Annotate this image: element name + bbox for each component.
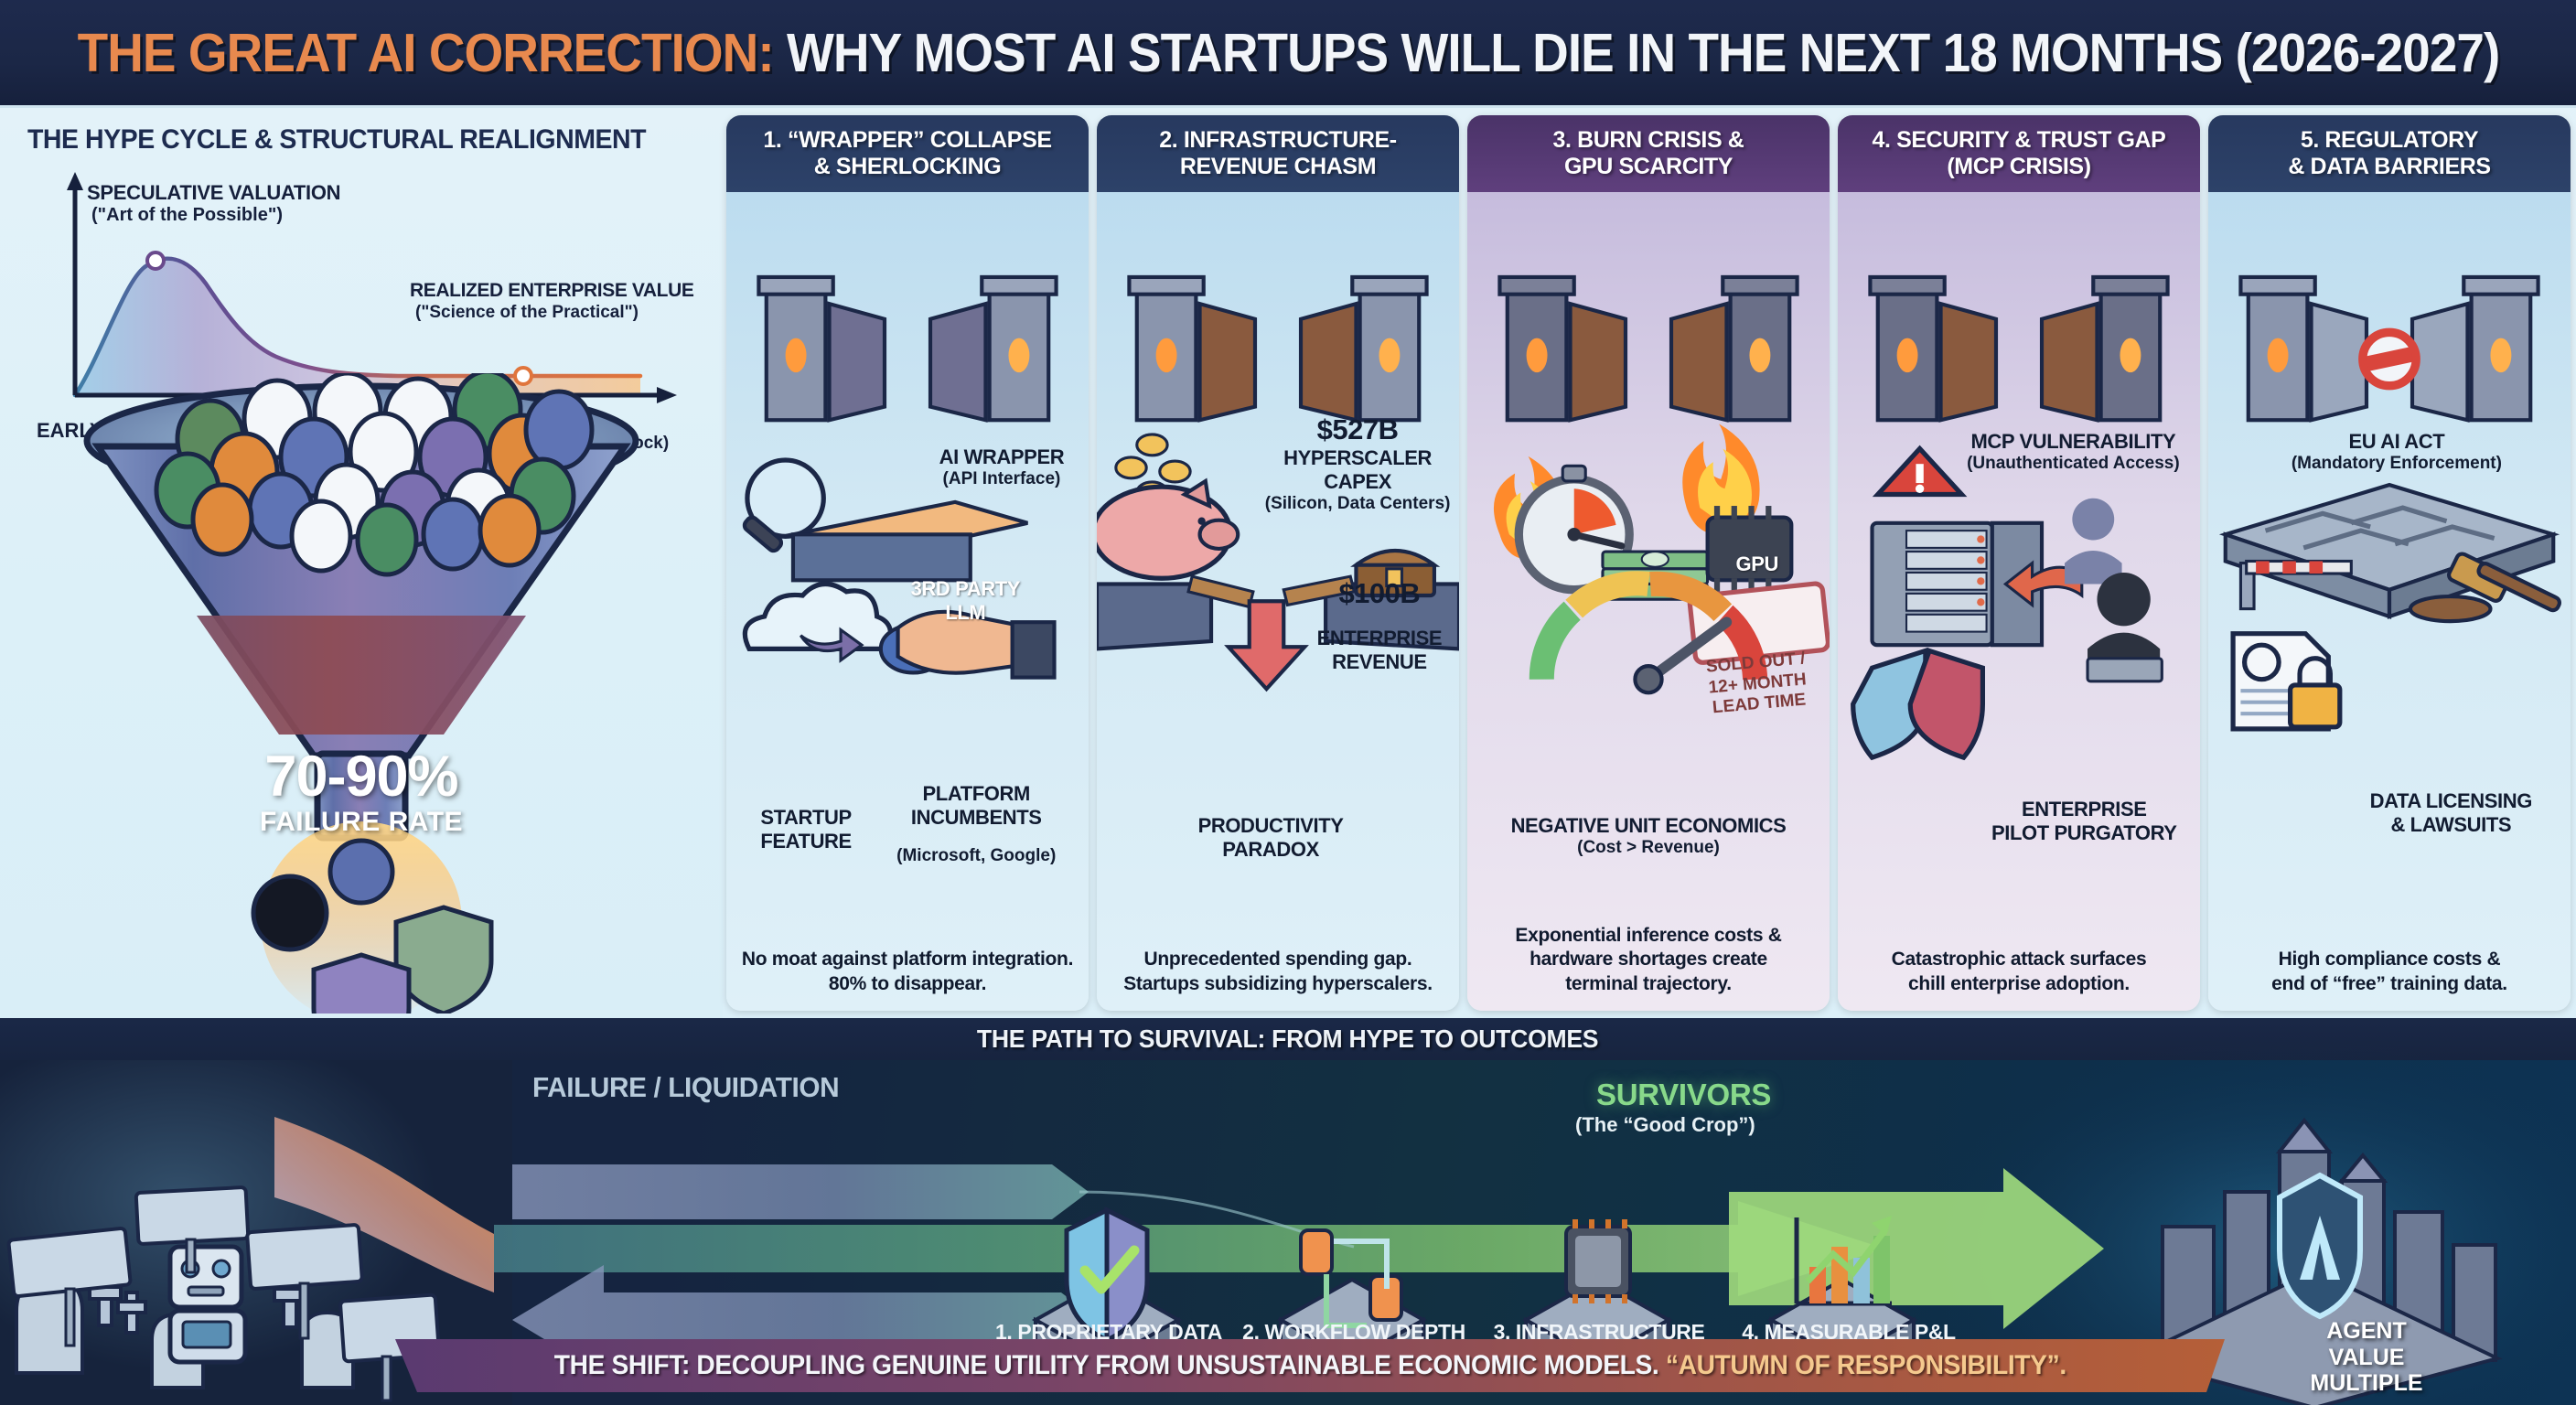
open-gate-icon: [1129, 277, 1426, 420]
chart-annotation-realized: REALIZED ENTERPRISE VALUE: [410, 280, 693, 302]
panel-1-label-startup-feature: STARTUP FEATURE: [734, 789, 878, 870]
panel-4-body: MCP VULNERABILITY (Unauthenticated Acces…: [1838, 192, 2200, 1011]
panel-1-footer: No moat against platform integration. 80…: [726, 948, 1089, 996]
startup-failure-funnel: 70-90% FAILURE RATE: [50, 373, 672, 1014]
gpu-chip-icon: [1708, 506, 1792, 592]
open-gate-icon: [1870, 277, 2167, 420]
panel-1-title: 1. “WRAPPER” COLLAPSE & SHERLOCKING: [726, 115, 1089, 192]
panel-3-footer: Exponential inference costs & hardware s…: [1467, 924, 1830, 996]
maze-icon: [2226, 485, 2553, 617]
no-entry-icon: [2363, 332, 2416, 385]
broken-shield-icon: [1853, 650, 1983, 757]
risk-panels: 1. “WRAPPER” COLLAPSE & SHERLOCKING: [723, 108, 2576, 1018]
panel-wrapper-collapse[interactable]: 1. “WRAPPER” COLLAPSE & SHERLOCKING: [726, 115, 1089, 1011]
panel-2-footer: Unprecedented spending gap. Startups sub…: [1097, 948, 1459, 996]
panel-2-title: 2. INFRASTRUCTURE- REVENUE CHASM: [1097, 115, 1459, 192]
section-heading: THE HYPE CYCLE & STRUCTURAL REALIGNMENT: [27, 124, 671, 156]
panel-3-body: GPU SOLD OUT / 12+ MONTH LEAD TIME NEGAT…: [1467, 192, 1830, 1011]
agent-value-multiple-label: AGENT VALUE MULTIPLE: [2270, 1318, 2463, 1397]
panel-3-label-negative-unit-economics: NEGATIVE UNIT ECONOMICS (Cost > Revenue): [1471, 814, 1826, 858]
panel-1-label-ai-wrapper: AI WRAPPER (API Interface): [915, 445, 1089, 489]
page-title: THE GREAT AI CORRECTION: WHY MOST AI STA…: [77, 22, 2499, 84]
panel-5-illustration: [2208, 192, 2571, 781]
panel-5-label-eu-ai-act: EU AI ACT (Mandatory Enforcement): [2238, 430, 2556, 474]
y-axis-arrow: [67, 172, 83, 190]
panel-4-label-mcp-vulnerability: MCP VULNERABILITY (Unauthenticated Acces…: [1947, 430, 2200, 474]
panel-5-footer: High compliance costs & end of “free” tr…: [2208, 948, 2571, 996]
panel-2-label-enterprise-revenue: $100B ENTERPRISE REVENUE: [1300, 561, 1459, 691]
panel-4-title: 4. SECURITY & TRUST GAP (MCP CRISIS): [1838, 115, 2200, 192]
panel-4-footer: Catastrophic attack surfaces chill enter…: [1838, 948, 2200, 996]
shift-text-highlight: “AUTUMN OF RESPONSIBILITY”.: [1658, 1350, 2066, 1380]
panel-security-trust-gap[interactable]: 4. SECURITY & TRUST GAP (MCP CRISIS): [1838, 115, 2200, 1011]
down-arrow-icon: [1229, 601, 1304, 689]
panel-regulatory-data-barriers[interactable]: 5. REGULATORY & DATA BARRIERS: [2208, 115, 2571, 1011]
shift-banner-text: THE SHIFT: DECOUPLING GENUINE UTILITY FR…: [553, 1350, 2066, 1381]
piggy-bank-icon: [1097, 481, 1238, 578]
robot-icon: [170, 1247, 245, 1362]
open-gate-icon: [1499, 277, 1797, 420]
chart-annotation-speculative-sub: ("Art of the Possible"): [91, 205, 283, 226]
copyright-document-icon: [2233, 634, 2340, 729]
peak-marker: [147, 252, 164, 269]
panel-4-label-enterprise-pilot-purgatory: ENTERPRISE PILOT PURGATORY: [1975, 781, 2193, 862]
failure-flow-top: [512, 1164, 1089, 1219]
panel-2-label-productivity-paradox: PRODUCTIVITY PARADOX: [1162, 798, 1379, 878]
title-highlight: THE GREAT AI CORRECTION:: [77, 23, 773, 83]
panel-infrastructure-revenue-chasm[interactable]: 2. INFRASTRUCTURE- REVENUE CHASM: [1097, 115, 1459, 1011]
panel-5-body: EU AI ACT (Mandatory Enforcement) DATA L…: [2208, 192, 2571, 1011]
panel-1-label-3rd-party-llm: 3RD PARTY LLM: [882, 561, 1048, 641]
panel-3-title: 3. BURN CRISIS & GPU SCARCITY: [1467, 115, 1830, 192]
funnel-svg: [50, 373, 672, 1014]
panel-2-label-capex: $527B HYPERSCALER CAPEX (Silicon, Data C…: [1256, 413, 1459, 514]
page-title-bar: THE GREAT AI CORRECTION: WHY MOST AI STA…: [0, 0, 2576, 108]
failure-liquidation-label: FAILURE / LIQUIDATION: [532, 1071, 839, 1104]
panel-4-illustration: [1838, 192, 2200, 781]
panel-5-title: 5. REGULATORY & DATA BARRIERS: [2208, 115, 2571, 192]
open-gate-icon: [758, 277, 1056, 420]
panel-2-body: $527B HYPERSCALER CAPEX (Silicon, Data C…: [1097, 192, 1459, 1011]
funnel-band: [197, 616, 526, 735]
panel-1-body: AI WRAPPER (API Interface) 3RD PARTY LLM…: [726, 192, 1089, 1011]
panel-5-label-data-licensing: DATA LICENSING & LAWSUITS: [2339, 773, 2564, 853]
panel-burn-crisis-gpu-scarcity[interactable]: 3. BURN CRISIS & GPU SCARCITY: [1467, 115, 1830, 1011]
hype-cycle-section: THE HYPE CYCLE & STRUCTURAL REALIGNMENT: [0, 108, 723, 1018]
survivors-label: SURVIVORS: [1596, 1078, 1771, 1112]
failure-rate-label: FAILURE RATE: [50, 807, 672, 838]
panel-3-label-sold-out: SOLD OUT / 12+ MONTH LEAD TIME: [1680, 628, 1830, 741]
survivors-sublabel: (The “Good Crop”): [1575, 1113, 1755, 1137]
chart-annotation-realized-sub: ("Science of the Practical"): [415, 303, 639, 323]
shift-banner: THE SHIFT: DECOUPLING GENUINE UTILITY FR…: [395, 1339, 2225, 1392]
title-rest: WHY MOST AI STARTUPS WILL DIE IN THE NEX…: [773, 23, 2499, 83]
cloud-icon: [745, 584, 890, 660]
chart-annotation-speculative: SPECULATIVE VALUATION: [87, 181, 340, 205]
shift-text-main: THE SHIFT: DECOUPLING GENUINE UTILITY FR…: [553, 1350, 1658, 1380]
failure-rate-value: 70-90%: [50, 744, 672, 810]
panel-1-label-platform-incumbents: PLATFORM INCUMBENTS (Microsoft, Google): [864, 766, 1089, 883]
panel-3-label-gpu: GPU: [1699, 552, 1815, 576]
